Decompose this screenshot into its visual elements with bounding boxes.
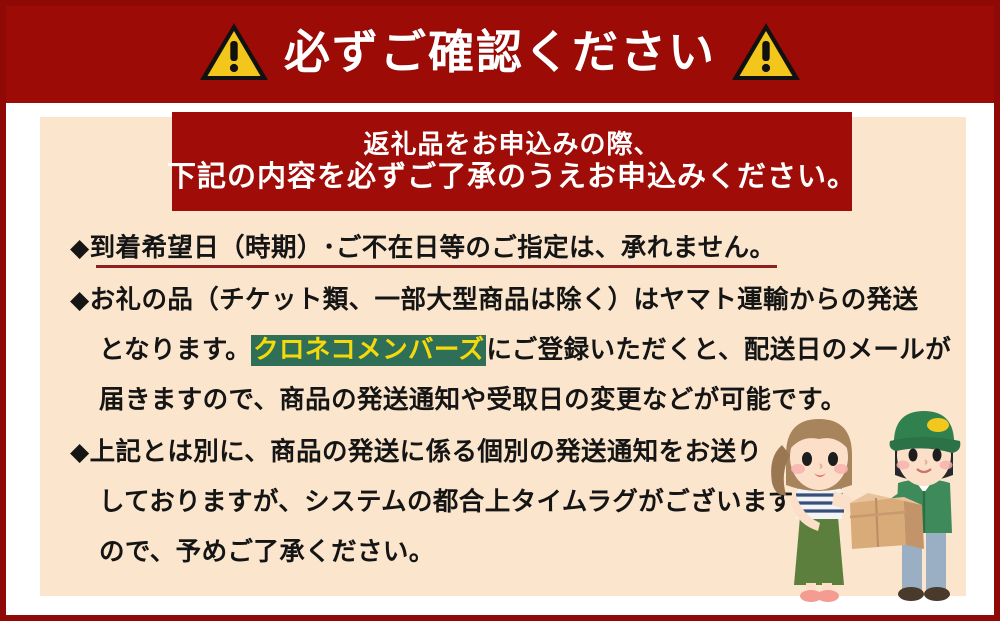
- notice-line: ◆到着希望日（時期）･ご不在日等のご指定は、承れません。: [70, 223, 950, 273]
- notice-banner: 必ずご確認ください 返礼品をお申込みの際、 下記の内容を必ずご了承のうえお申込み…: [0, 0, 1000, 621]
- notice-line: ◆上記とは別に、商品の発送に係る個別の発送通知をお送り: [70, 427, 950, 477]
- diamond-marker-icon: ◆: [70, 438, 90, 466]
- notice-line-text: 上記とは別に、商品の発送に係る個別の発送通知をお送り: [90, 438, 763, 466]
- notice-bullet-3: ◆上記とは別に、商品の発送に係る個別の発送通知をお送り しておりますが、システム…: [70, 427, 950, 577]
- underlined-text: ◆到着希望日（時期）･ご不在日等のご指定は、承れません。: [70, 223, 775, 273]
- sub-header-banner: 返礼品をお申込みの際、 下記の内容を必ずご了承のうえお申込みください。: [172, 112, 852, 211]
- notice-line-text: お礼の品（チケット類、一部大型商品は除く）はヤマト運輸からの発送: [90, 286, 919, 314]
- header-band: 必ずご確認ください: [0, 0, 1000, 103]
- notice-line-text: 届きますので、商品の発送通知や受取日の変更などが可能です。: [99, 386, 847, 414]
- notice-line-text: しておりますが、システムの都合上タイムラグがございます: [99, 488, 794, 516]
- red-underline: [96, 265, 777, 268]
- notice-line: しておりますが、システムの都合上タイムラグがございます: [70, 477, 950, 527]
- notice-bullet-2: ◆お礼の品（チケット類、一部大型商品は除く）はヤマト運輸からの発送 となります。…: [70, 275, 950, 425]
- notice-line: 届きますので、商品の発送通知や受取日の変更などが可能です。: [70, 375, 950, 425]
- notice-line-text: となります。: [99, 336, 251, 364]
- sub-header-line-1: 返礼品をお申込みの際、: [363, 131, 660, 158]
- diamond-marker-icon: ◆: [70, 286, 90, 314]
- warning-triangle-icon-left: [198, 20, 270, 84]
- diamond-marker-icon: ◆: [70, 234, 90, 262]
- kuroneko-members-highlight[interactable]: クロネコメンバーズ: [251, 335, 486, 366]
- notice-line-text: ので、予めご了承ください。: [99, 538, 435, 566]
- notice-line: ので、予めご了承ください。: [70, 527, 950, 577]
- notice-line: となります。クロネコメンバーズにご登録いただくと、配送日のメールが: [70, 325, 950, 375]
- notice-bullet-1: ◆到着希望日（時期）･ご不在日等のご指定は、承れません。: [70, 223, 950, 273]
- notice-line-text: にご登録いただくと、配送日のメールが: [486, 336, 951, 364]
- warning-triangle-icon-right: [730, 20, 802, 84]
- notice-body: ◆到着希望日（時期）･ご不在日等のご指定は、承れません。 ◆お礼の品（チケット類…: [70, 223, 950, 579]
- page-title: 必ずご確認ください: [284, 29, 716, 75]
- sub-header-line-2: 下記の内容を必ずご了承のうえお申込みください。: [167, 162, 857, 192]
- notice-line-text: 到着希望日（時期）･ご不在日等のご指定は、承れません。: [90, 234, 776, 262]
- notice-line: ◆お礼の品（チケット類、一部大型商品は除く）はヤマト運輸からの発送: [70, 275, 950, 325]
- content-panel: 返礼品をお申込みの際、 下記の内容を必ずご了承のうえお申込みください。 ◆到着希…: [40, 117, 966, 596]
